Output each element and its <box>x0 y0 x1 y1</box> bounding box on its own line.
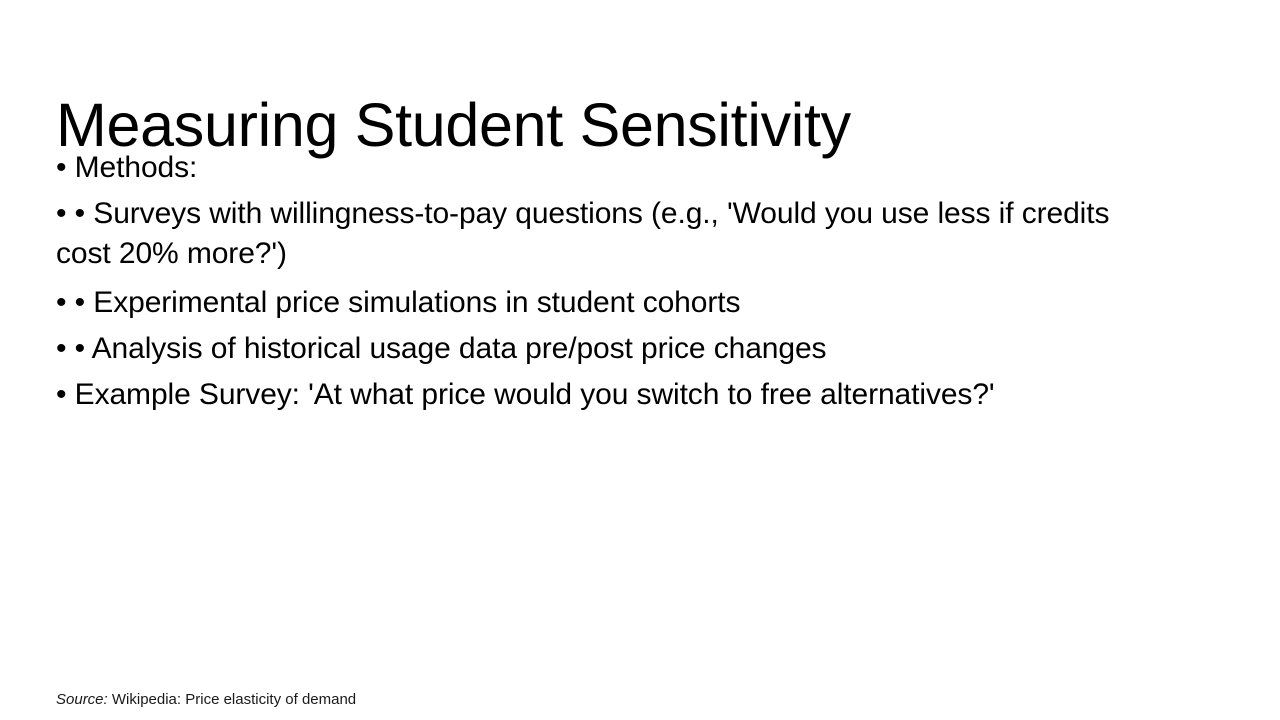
list-item-label: Methods: <box>75 151 198 184</box>
bullet-marker-icon: • <box>56 151 66 184</box>
list-item: • Methods: <box>56 145 1166 191</box>
list-item-label: Example Survey: 'At what price would you… <box>75 378 995 411</box>
bullet-list: • Methods: • • Surveys with willingness-… <box>56 145 1166 418</box>
bullet-marker-icon: • • <box>56 197 85 230</box>
list-item: • • Analysis of historical usage data pr… <box>56 326 1166 372</box>
slide-canvas: Measuring Student Sensitivity • Methods:… <box>0 0 1280 720</box>
list-item: • Example Survey: 'At what price would y… <box>56 372 1166 418</box>
list-item: • • Experimental price simulations in st… <box>56 280 1166 326</box>
bullet-marker-icon: • • <box>56 286 85 319</box>
bullet-marker-icon: • <box>56 378 66 411</box>
list-item-label: Analysis of historical usage data pre/po… <box>92 332 827 365</box>
list-item-label: Experimental price simulations in studen… <box>93 286 740 319</box>
bullet-marker-icon: • • <box>56 332 85 365</box>
list-item: • • Surveys with willingness-to-pay ques… <box>56 194 1166 274</box>
list-item-label: Surveys with willingness-to-pay question… <box>56 197 1109 270</box>
source-attribution: Source: Wikipedia: Price elasticity of d… <box>56 691 356 709</box>
source-label: Source: <box>56 691 108 708</box>
source-value: Wikipedia: Price elasticity of demand <box>112 691 356 708</box>
